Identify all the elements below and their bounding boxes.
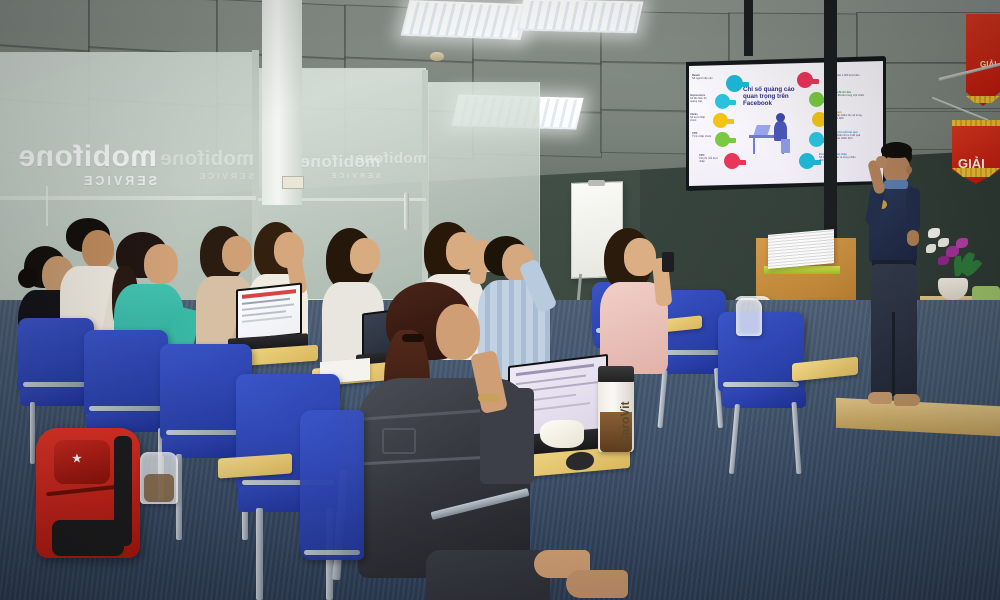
slide-bullet-right-1	[797, 72, 813, 88]
backpack-front-pocket	[54, 440, 110, 484]
presentation-screen: Chỉ số quảng cáo quan trọng trên Faceboo…	[686, 56, 886, 191]
slide-left-body-2: Số lần hiển thị quảng cáo	[690, 97, 706, 103]
slide-bullet-left-2	[715, 94, 730, 109]
snack-bag-contents	[144, 474, 174, 502]
ceiling-light	[517, 0, 644, 33]
attendee-head	[144, 244, 178, 284]
slide-left-body-5: Chi phí mỗi lượt nhấp	[699, 157, 718, 163]
slide-bullet-right-5	[799, 153, 815, 169]
slide-bullet-right-4	[809, 132, 824, 147]
slide-left-body-3: Số lượt nhấp chuột	[690, 116, 705, 122]
wall-switch-panel	[282, 176, 304, 189]
plant-leaf-3	[953, 256, 963, 277]
slide-title: Chỉ số quảng cáo quan trọng trên Faceboo…	[743, 87, 805, 108]
backpack-logo: ★	[72, 452, 82, 465]
chair-back	[84, 330, 168, 416]
slide-left-item-3: Clicks Số lượt nhấp chuột	[690, 113, 712, 123]
slide-left-item-4: CTR Tỷ lệ nhấp chuột	[692, 132, 713, 138]
glass-logo-sub-3: SERVICE	[300, 172, 381, 180]
instructor-hand	[876, 156, 887, 168]
glass-logo-mobifone-2: mobifone SERVICE	[160, 148, 254, 181]
foreground-jeans	[426, 550, 550, 600]
attendee-head	[350, 238, 380, 274]
slide-canvas: Chỉ số quảng cáo quan trọng trên Faceboo…	[689, 61, 883, 186]
slide-bullet-left-3	[713, 113, 728, 128]
foreground-jacket-pocket	[382, 428, 416, 454]
slide-figure-body	[774, 121, 787, 141]
structural-column	[262, 0, 302, 205]
instructor-foot-left	[868, 392, 892, 404]
attendee-hair-bun	[18, 268, 38, 288]
flower-bloom-white-3	[926, 244, 936, 253]
smoke-detector-icon	[430, 52, 444, 61]
hanging-cord	[46, 186, 48, 226]
chair-back	[300, 410, 364, 560]
attendee-head	[82, 230, 114, 268]
instructor-arm-right	[906, 188, 920, 232]
slide-bullet-left-5	[724, 153, 740, 169]
instructor-foot-right	[894, 394, 920, 406]
foreground-head	[436, 304, 480, 360]
ceiling-light	[401, 0, 530, 40]
screen-mount-post-2	[744, 0, 753, 56]
attendee-head	[624, 238, 656, 276]
glass-logo-sub-2: SERVICE	[160, 171, 254, 181]
flower-bloom-white-2	[938, 238, 949, 247]
foreground-foot-2	[566, 570, 628, 598]
smartphone[interactable]	[662, 252, 674, 272]
plastic-cup	[736, 298, 762, 336]
glass-logo-text: mobifone	[18, 140, 157, 173]
pennant-text-bottom: GIẢI	[958, 156, 985, 171]
slide-left-item-5: CPC Chi phí mỗi lượt nhấp	[699, 154, 721, 164]
slide-figure-desk-leg	[753, 138, 755, 154]
chair-leg	[30, 402, 35, 464]
classroom-photo: mobifone SERVICE mobifone SERVICE mobifo…	[0, 0, 1000, 600]
flip-chart-clip	[588, 180, 605, 186]
instructor-hair-top	[881, 142, 912, 158]
glass-logo-mobifone: mobifone SERVICE	[18, 140, 157, 188]
shaker-bottle-label: CaroVit	[618, 402, 632, 444]
stacked-papers	[768, 229, 834, 269]
door-handle[interactable]	[404, 192, 409, 230]
foreground-hair-tie	[402, 334, 424, 342]
attendee-head	[222, 236, 252, 272]
instructor-hand-right	[907, 230, 919, 246]
tissue-paper	[540, 420, 584, 448]
slide-bullet-right-2	[809, 92, 824, 107]
chair-leg	[256, 508, 263, 600]
shaker-bottle-cap[interactable]	[598, 366, 634, 382]
glass-logo-text-4: mobifone	[355, 150, 427, 167]
instructor-collar	[884, 180, 908, 189]
slide-bullet-left-4	[715, 132, 730, 147]
slide-left-body-4: Tỷ lệ nhấp chuột	[692, 135, 711, 138]
glass-logo-text-2: mobifone	[160, 148, 254, 170]
pennant-fringe-bottom	[952, 120, 1000, 126]
flower-bloom-purple-3	[938, 256, 949, 265]
glass-logo-mobifone-4: mobifone	[355, 150, 427, 167]
foreground-bracelet	[478, 394, 500, 402]
flower-bloom-white	[928, 228, 940, 238]
instructor-ear	[906, 166, 912, 174]
laptop-screen[interactable]	[236, 283, 302, 342]
slide-left-item-1: Reach Số người tiếp cận	[692, 74, 714, 80]
backpack-bottom-panel	[52, 520, 124, 556]
flower-bloom-purple-2	[956, 238, 968, 248]
slide-bullet-left-1	[726, 75, 743, 92]
chair-back	[18, 318, 94, 392]
glass-logo-sub: SERVICE	[18, 174, 157, 188]
slide-left-item-2: Impressions Số lần hiển thị quảng cáo	[690, 94, 713, 104]
slide-figure-head	[776, 113, 785, 122]
slide-figure-chair	[781, 139, 790, 153]
instructor-leg-split	[892, 312, 895, 396]
slide-left-body-1: Số người tiếp cận	[692, 77, 713, 80]
